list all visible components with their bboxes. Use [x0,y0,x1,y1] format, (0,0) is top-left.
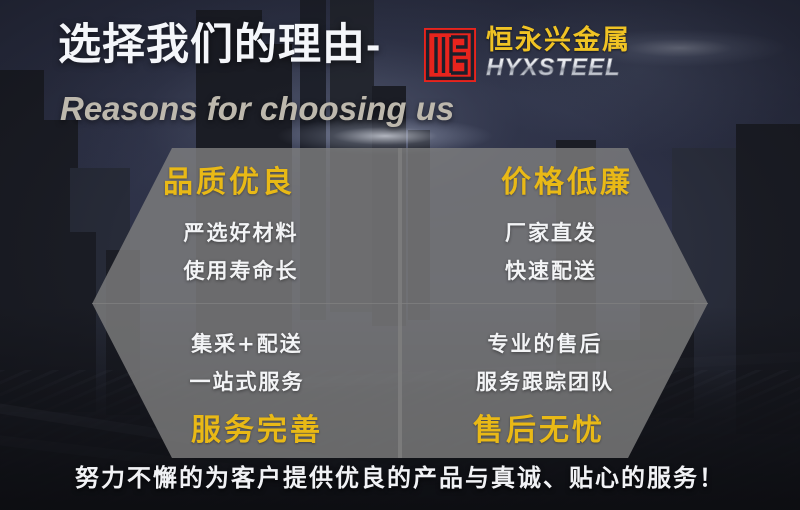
feature-panels: 品质优良 严选好材料 使用寿命长 价格低廉 厂家直发 快速配送 集采+配送 一站… [0,0,800,510]
promo-banner: 选择我们的理由- Reasons for choosing us 恒永兴金属 H… [0,0,800,510]
feature-panel-top-left[interactable]: 品质优良 严选好材料 使用寿命长 [92,148,402,304]
panel-heading: 价格低廉 [412,168,722,198]
panel-line-1: 厂家直发 [396,222,706,243]
panel-heading: 售后无忧 [384,416,694,446]
feature-panel-top-right[interactable]: 价格低廉 厂家直发 快速配送 [398,148,708,304]
panel-line-2: 快速配送 [396,260,706,281]
panel-line-2: 服务跟踪团队 [390,371,700,392]
panel-heading: 服务完善 [102,416,412,446]
panel-line-1: 集采+配送 [92,333,402,354]
footer-slogan: 努力不懈的为客户提供优良的产品与真诚、贴心的服务！ [0,466,800,490]
feature-panel-bottom-right[interactable]: 专业的售后 服务跟踪团队 售后无忧 [398,303,708,458]
panel-line-1: 专业的售后 [390,333,700,354]
panel-line-2: 一站式服务 [92,371,402,392]
feature-panel-bottom-left[interactable]: 集采+配送 一站式服务 服务完善 [92,303,402,458]
panel-line-2: 使用寿命长 [86,260,396,281]
panel-line-1: 严选好材料 [86,222,396,243]
panel-heading: 品质优良 [74,168,384,198]
